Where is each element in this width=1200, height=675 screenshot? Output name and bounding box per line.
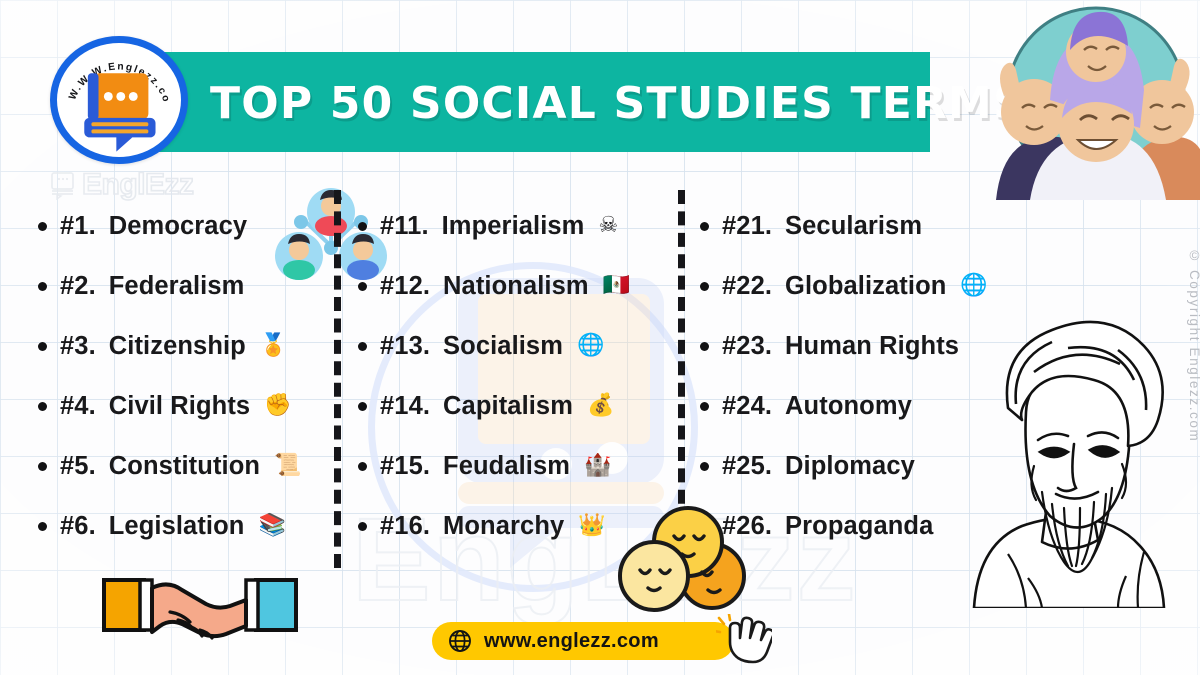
bullet-icon bbox=[358, 402, 367, 411]
item-number: #12. bbox=[380, 272, 430, 301]
bullet-icon bbox=[38, 282, 47, 291]
list-item: #1. Democracy bbox=[38, 196, 334, 256]
books-icon: 📚 bbox=[258, 515, 286, 537]
bullet-icon bbox=[700, 402, 709, 411]
bullet-icon bbox=[358, 342, 367, 351]
item-number: #4. bbox=[60, 392, 96, 421]
item-label: Citizenship bbox=[109, 332, 246, 361]
list-item: #4. Civil Rights ✊ bbox=[38, 376, 334, 436]
item-number: #2. bbox=[60, 272, 96, 301]
item-number: #1. bbox=[60, 212, 96, 241]
item-number: #25. bbox=[722, 452, 772, 481]
item-label: Nationalism bbox=[443, 272, 589, 301]
item-number: #15. bbox=[380, 452, 430, 481]
item-number: #11. bbox=[380, 212, 429, 241]
list-item: #12. Nationalism 🇲🇽 bbox=[358, 256, 678, 316]
list-item: #23. Human Rights bbox=[700, 316, 1000, 376]
item-label: Autonomy bbox=[785, 392, 912, 421]
item-label: Feudalism bbox=[443, 452, 570, 481]
column-one: #1. Democracy #2. Federalism #3. Citizen… bbox=[38, 196, 334, 556]
list-item: #5. Constitution 📜 bbox=[38, 436, 334, 496]
list-item: #6. Legislation 📚 bbox=[38, 496, 334, 556]
bullet-icon bbox=[700, 282, 709, 291]
column-three: #21. Secularism #22. Globalization 🌐 #23… bbox=[700, 196, 1000, 556]
flag-icon: 🇲🇽 bbox=[603, 275, 631, 297]
bullet-icon bbox=[358, 462, 367, 471]
crown-icon: 👑 bbox=[578, 515, 606, 537]
item-number: #21. bbox=[722, 212, 772, 241]
bullet-icon bbox=[38, 402, 47, 411]
item-label: Capitalism bbox=[443, 392, 573, 421]
globe-icon: 🌐 bbox=[577, 335, 605, 357]
medal-icon: 🏅 bbox=[260, 335, 288, 357]
list-item: #21. Secularism bbox=[700, 196, 1000, 256]
poster-canvas: EngLEzz EnglEzz TOP 50 SOCIAL STUDIES TE… bbox=[0, 0, 1200, 675]
item-label: Democracy bbox=[109, 212, 247, 241]
item-label: Civil Rights bbox=[109, 392, 250, 421]
list-item: #14. Capitalism 💰 bbox=[358, 376, 678, 436]
item-label: Human Rights bbox=[785, 332, 959, 361]
item-number: #6. bbox=[60, 512, 96, 541]
click-hand-icon bbox=[716, 614, 772, 666]
skull-crossbones-icon: ☠ bbox=[598, 215, 618, 237]
item-label: Monarchy bbox=[443, 512, 564, 541]
students-photo bbox=[978, 0, 1200, 200]
list-item: #11. Imperialism ☠ bbox=[358, 196, 678, 256]
item-label: Globalization bbox=[785, 272, 946, 301]
globe-icon bbox=[448, 629, 472, 653]
item-number: #5. bbox=[60, 452, 96, 481]
item-label: Secularism bbox=[785, 212, 922, 241]
footer-url: www.englezz.com bbox=[484, 630, 659, 653]
bullet-icon bbox=[38, 462, 47, 471]
item-label: Legislation bbox=[109, 512, 245, 541]
list-item: #2. Federalism bbox=[38, 256, 334, 316]
three-smiley-faces bbox=[616, 506, 748, 616]
item-number: #22. bbox=[722, 272, 772, 301]
bullet-icon bbox=[38, 522, 47, 531]
list-item: #22. Globalization 🌐 bbox=[700, 256, 1000, 316]
brand-logo[interactable]: W.W.W.Englezz.com bbox=[50, 36, 188, 164]
list-item: #15. Feudalism 🏰 bbox=[358, 436, 678, 496]
bullet-icon bbox=[38, 342, 47, 351]
website-footer-pill[interactable]: www.englezz.com bbox=[432, 622, 734, 660]
item-label: Imperialism bbox=[442, 212, 585, 241]
item-label: Constitution bbox=[109, 452, 260, 481]
castle-icon: 🏰 bbox=[584, 455, 612, 477]
item-number: #16. bbox=[380, 512, 430, 541]
raised-fist-icon: ✊ bbox=[264, 395, 292, 417]
item-label: Socialism bbox=[443, 332, 563, 361]
item-label: Federalism bbox=[109, 272, 245, 301]
bullet-icon bbox=[358, 282, 367, 291]
copyright-text: © Copyright Englezz.com bbox=[1187, 248, 1200, 442]
scholar-portrait bbox=[968, 316, 1198, 608]
list-item: #13. Socialism 🌐 bbox=[358, 316, 678, 376]
page-title: TOP 50 SOCIAL STUDIES TERMS bbox=[210, 60, 970, 146]
column-divider-left bbox=[334, 190, 341, 568]
item-number: #24. bbox=[722, 392, 772, 421]
money-bag-icon: 💰 bbox=[587, 395, 615, 417]
list-item: #3. Citizenship 🏅 bbox=[38, 316, 334, 376]
column-two: #11. Imperialism ☠ #12. Nationalism 🇲🇽 #… bbox=[358, 196, 678, 556]
handshake-illustration bbox=[96, 562, 304, 646]
scroll-icon: 📜 bbox=[274, 455, 302, 477]
globe-icon: 🌐 bbox=[960, 275, 988, 297]
item-number: #23. bbox=[722, 332, 772, 361]
bullet-icon bbox=[700, 222, 709, 231]
item-number: #14. bbox=[380, 392, 430, 421]
item-number: #3. bbox=[60, 332, 96, 361]
item-number: #13. bbox=[380, 332, 430, 361]
bullet-icon bbox=[358, 522, 367, 531]
list-item: #25. Diplomacy bbox=[700, 436, 1000, 496]
item-label: Propaganda bbox=[785, 512, 933, 541]
bullet-icon bbox=[358, 222, 367, 231]
item-label: Diplomacy bbox=[785, 452, 915, 481]
bullet-icon bbox=[700, 342, 709, 351]
bullet-icon bbox=[700, 462, 709, 471]
list-item: #24. Autonomy bbox=[700, 376, 1000, 436]
bullet-icon bbox=[38, 222, 47, 231]
